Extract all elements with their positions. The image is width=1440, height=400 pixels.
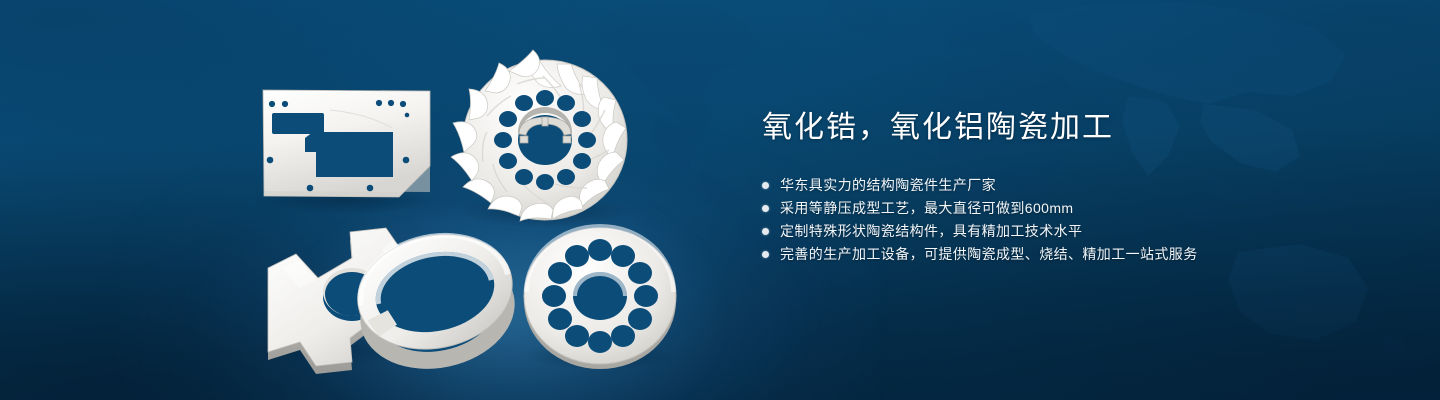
bullet-dot-icon (762, 182, 769, 189)
page-title: 氧化锆，氧化铝陶瓷加工 (762, 108, 1322, 148)
ceramic-plate (263, 90, 430, 197)
list-item-label: 采用等静压成型工艺，最大直径可做到600mm (780, 197, 1073, 220)
bullet-dot-icon (762, 205, 769, 212)
list-item: 定制特殊形状陶瓷结构件，具有精加工技术水平 (762, 220, 1322, 243)
list-item: 完善的生产加工设备，可提供陶瓷成型、烧结、精加工一站式服务 (762, 243, 1322, 266)
product-image-cluster (0, 0, 760, 400)
ceramic-impeller (451, 50, 627, 221)
marketing-copy: 氧化锆，氧化铝陶瓷加工 华东具实力的结构陶瓷件生产厂家 采用等静压成型工艺，最大… (762, 108, 1322, 282)
list-item: 采用等静压成型工艺，最大直径可做到600mm (762, 197, 1322, 220)
list-item-label: 完善的生产加工设备，可提供陶瓷成型、烧结、精加工一站式服务 (780, 243, 1198, 266)
bullet-dot-icon (762, 228, 769, 235)
ceramic-perforated-disc (524, 224, 676, 369)
list-item-label: 定制特殊形状陶瓷结构件，具有精加工技术水平 (780, 220, 1082, 243)
list-item: 华东具实力的结构陶瓷件生产厂家 (762, 174, 1322, 197)
feature-list: 华东具实力的结构陶瓷件生产厂家 采用等静压成型工艺，最大直径可做到600mm 定… (762, 174, 1322, 266)
hero-banner: 氧化锆，氧化铝陶瓷加工 华东具实力的结构陶瓷件生产厂家 采用等静压成型工艺，最大… (0, 0, 1440, 400)
list-item-label: 华东具实力的结构陶瓷件生产厂家 (780, 174, 996, 197)
bullet-dot-icon (762, 251, 769, 258)
